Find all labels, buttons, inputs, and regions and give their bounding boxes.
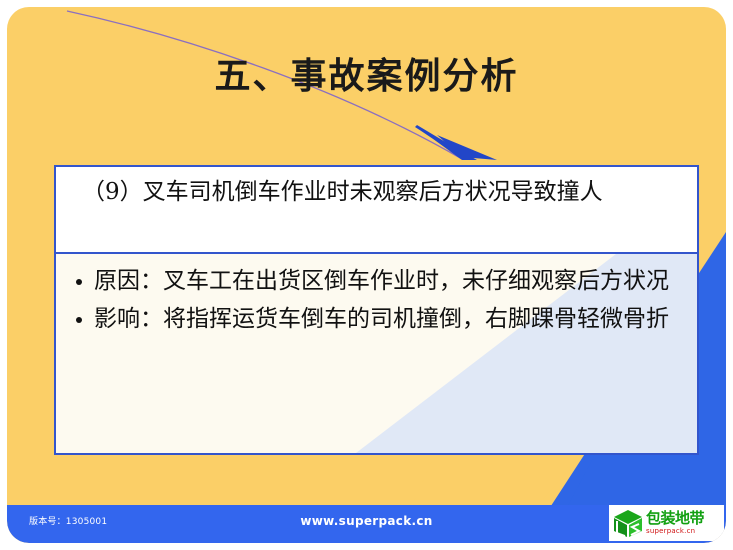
page-title: 五、事故案例分析: [7, 47, 726, 99]
logo-text-block: 包装地带 superpack.cn: [646, 511, 704, 535]
box-icon: [612, 508, 644, 538]
logo-name-cn: 包装地带: [646, 511, 704, 526]
list-item: 影响：将指挥运货车倒车的司机撞倒，右脚踝骨轻微骨折: [70, 300, 687, 338]
case-heading-text: （9）叉车司机倒车作业时未观察后方状况导致撞人: [68, 175, 687, 209]
list-item: 原因：叉车工在出货区倒车作业时，未仔细观察后方状况: [70, 262, 687, 300]
content-frame: （9）叉车司机倒车作业时未观察后方状况导致撞人 原因：叉车工在出货区倒车作业时，…: [54, 165, 699, 455]
slide-panel: 五、事故案例分析 （9）叉车司机倒车作业时未观察后方状况导致撞人 原因：叉车工在…: [7, 7, 726, 543]
slide: 五、事故案例分析 （9）叉车司机倒车作业时未观察后方状况导致撞人 原因：叉车工在…: [0, 0, 733, 550]
case-bullet-list: 原因：叉车工在出货区倒车作业时，未仔细观察后方状况 影响：将指挥运货车倒车的司机…: [70, 262, 687, 338]
footer-bar: 版本号：1305001 www.superpack.cn 包装地带 superp…: [7, 505, 726, 543]
case-body-box: 原因：叉车工在出货区倒车作业时，未仔细观察后方状况 影响：将指挥运货车倒车的司机…: [56, 254, 697, 453]
superpack-logo[interactable]: 包装地带 superpack.cn: [609, 505, 724, 541]
logo-name-en: superpack.cn: [646, 528, 704, 535]
case-heading-box: （9）叉车司机倒车作业时未观察后方状况导致撞人: [56, 167, 697, 254]
